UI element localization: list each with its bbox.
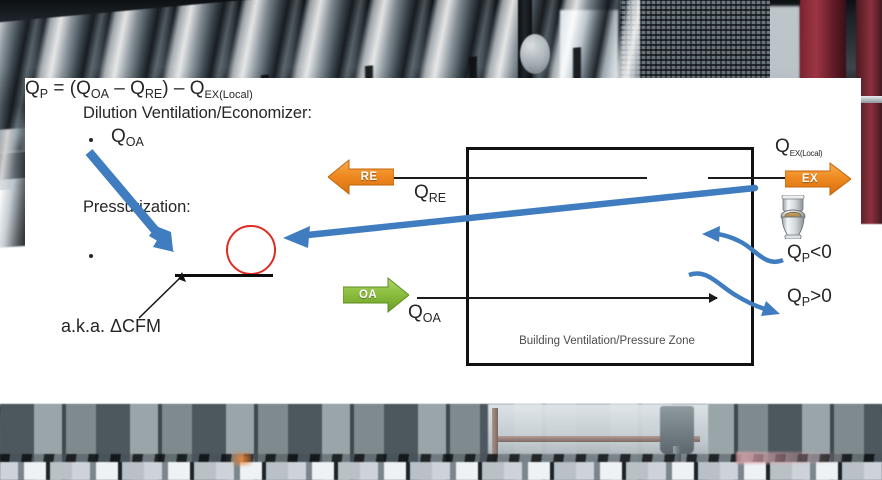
photo-floor-orange-glow xyxy=(232,452,252,466)
photo-floor-strip xyxy=(0,462,882,480)
photo-floor-pink-glow xyxy=(736,452,846,464)
blue-curved-arrow-qp-negative xyxy=(717,234,783,262)
blue-curved-arrow-qp-positive-head xyxy=(761,301,780,316)
blue-arrow-q-oa-to-equation xyxy=(89,152,174,252)
screenshot-stage: Dilution Ventilation/Economizer: QOA Pre… xyxy=(0,0,882,480)
blue-curved-arrow-qp-negative-head xyxy=(702,226,720,242)
photo-round-duct xyxy=(520,34,550,74)
slide-panel: Dilution Ventilation/Economizer: QOA Pre… xyxy=(25,78,861,403)
ventilation-diagram: Building Ventilation/Pressure Zone xyxy=(25,78,861,403)
blue-annotation-arrows xyxy=(25,78,861,403)
blue-arrow-exhaust-to-q-ex xyxy=(283,188,755,248)
blue-curved-arrow-qp-positive xyxy=(689,273,765,309)
